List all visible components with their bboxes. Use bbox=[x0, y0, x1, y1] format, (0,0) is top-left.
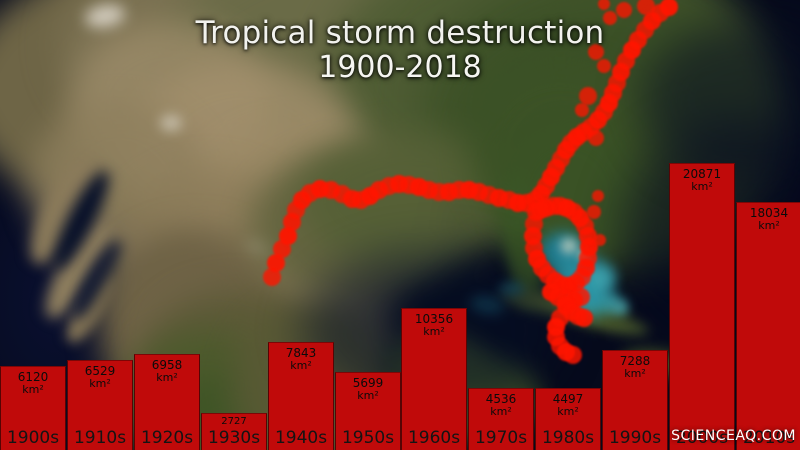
bar-1950s: 5699km²1950s bbox=[335, 372, 401, 450]
bar-1980s: 4497km²1980s bbox=[535, 388, 601, 450]
bar-value-label: 7288km² bbox=[603, 355, 667, 381]
bar-value-unit: km² bbox=[603, 368, 667, 380]
bar-1920s: 6958km²1920s bbox=[134, 354, 200, 450]
bar-value-label: 4536km² bbox=[469, 393, 533, 419]
bar-chart: 6120km²1900s6529km²1910s6958km²1920s2727… bbox=[0, 0, 800, 450]
bar-value-unit: km² bbox=[670, 181, 734, 193]
bar-value-label: 20871km² bbox=[670, 168, 734, 194]
bar-1900s: 6120km²1900s bbox=[0, 366, 66, 450]
bar-value-unit: km² bbox=[68, 378, 132, 390]
bar-value-label: 6958km² bbox=[135, 359, 199, 385]
bar-value-label: 10356km² bbox=[402, 313, 466, 339]
bar-value-label: 18034km² bbox=[737, 207, 800, 233]
bar-1930s: 27271930s bbox=[201, 413, 267, 450]
bar-value-unit: km² bbox=[269, 360, 333, 372]
bar-2000s: 20871km²2000s bbox=[669, 163, 735, 450]
bar-value-unit: km² bbox=[336, 390, 400, 402]
bar-value-unit: km² bbox=[402, 326, 466, 338]
bar-value-unit: km² bbox=[536, 406, 600, 418]
bar-1970s: 4536km²1970s bbox=[468, 388, 534, 450]
bar-decade-label: 1920s bbox=[135, 430, 199, 447]
bar-decade-label: 1900s bbox=[1, 430, 65, 447]
bar-decade-label: 1960s bbox=[402, 430, 466, 447]
bar-1910s: 6529km²1910s bbox=[67, 360, 133, 450]
bar-1960s: 10356km²1960s bbox=[401, 308, 467, 450]
bar-decade-label: 1990s bbox=[603, 430, 667, 447]
bar-1990s: 7288km²1990s bbox=[602, 350, 668, 450]
infographic-root: Tropical storm destruction 1900-2018 612… bbox=[0, 0, 800, 450]
bar-decade-label: 1940s bbox=[269, 430, 333, 447]
bar-value-label: 5699km² bbox=[336, 377, 400, 403]
bar-value-unit: km² bbox=[135, 372, 199, 384]
bar-value-unit: km² bbox=[469, 406, 533, 418]
bar-value-unit: km² bbox=[1, 384, 65, 396]
watermark-sciencaq: SCIENCEAQ.COM bbox=[671, 428, 796, 444]
bar-1940s: 7843km²1940s bbox=[268, 342, 334, 450]
bar-decade-label: 1950s bbox=[336, 430, 400, 447]
bar-value-label: 6120km² bbox=[1, 371, 65, 397]
bar-value-label: 6529km² bbox=[68, 365, 132, 391]
bar-decade-label: 1930s bbox=[202, 430, 266, 447]
bar-decade-label: 1910s bbox=[68, 430, 132, 447]
bar-decade-label: 1980s bbox=[536, 430, 600, 447]
bar-value-unit: km² bbox=[737, 220, 800, 232]
bar-value-label: 4497km² bbox=[536, 393, 600, 419]
bar-value-label: 2727 bbox=[202, 416, 266, 427]
bar-value-label: 7843km² bbox=[269, 347, 333, 373]
bar-decade-label: 1970s bbox=[469, 430, 533, 447]
bar-2010s: 18034km²2010s bbox=[736, 202, 800, 450]
